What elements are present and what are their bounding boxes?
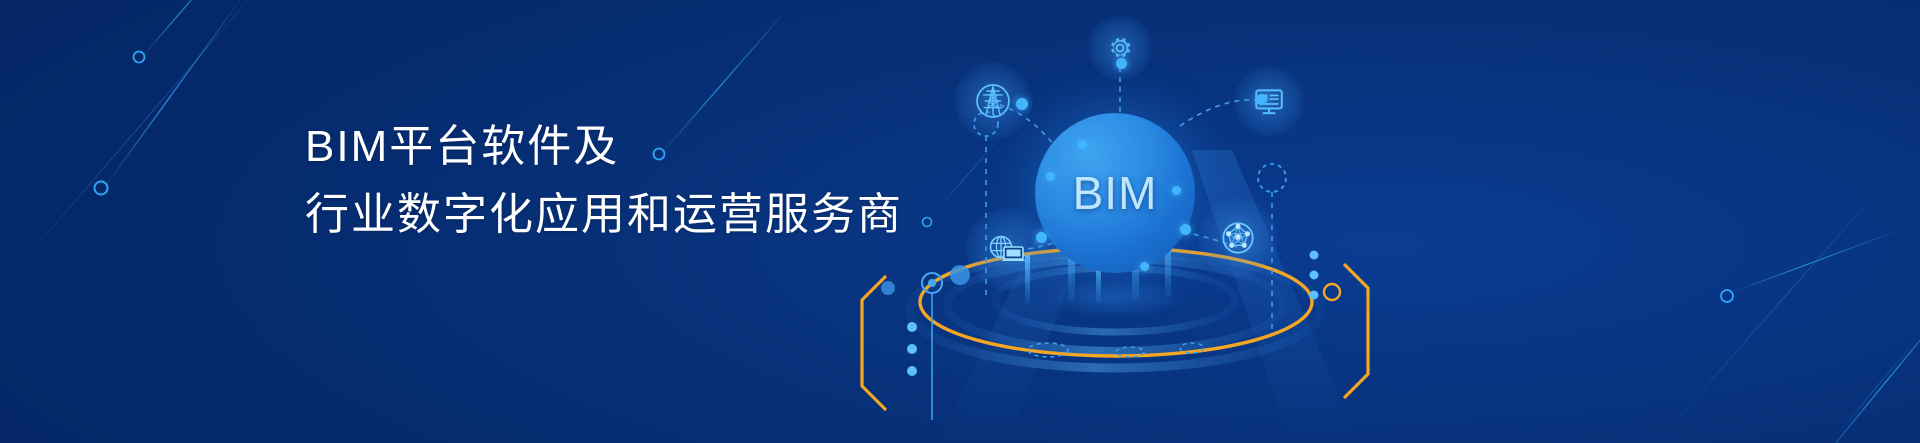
banner-headline: BIM平台软件及 行业数字化应用和运营服务商 [305, 113, 903, 249]
hero-banner: BIM平台软件及 行业数字化应用和运营服务商 [0, 0, 1920, 443]
connector-dot-gear [1116, 58, 1127, 69]
gear-icon-bubble[interactable] [1088, 16, 1152, 80]
connector-dot-sphere-top [1078, 140, 1087, 149]
monitor-icon-bubble[interactable] [1234, 66, 1304, 136]
globe-laptop-icon [984, 229, 1030, 269]
network-node-icon-bubble[interactable] [1198, 198, 1278, 278]
connector-dot-sphere-left [1046, 172, 1055, 181]
power-tower-icon [971, 79, 1015, 123]
connector-dot-sphere-right [1172, 186, 1181, 195]
connector-dot-tower [1016, 98, 1028, 110]
network-node-icon [1217, 217, 1259, 259]
connector-dot-globe [1036, 232, 1047, 243]
connector-dot-monitor [1256, 94, 1267, 105]
connector-dot-sphere-lower [1140, 262, 1149, 271]
headline-line-1: BIM平台软件及 [305, 113, 903, 181]
bim-sphere-label: BIM [1035, 113, 1195, 273]
headline-line-2: 行业数字化应用和运营服务商 [305, 181, 903, 249]
bim-sphere: BIM [1035, 113, 1195, 273]
bim-illustration: BIM [820, 0, 1440, 443]
connector-dot-network [1180, 224, 1191, 235]
globe-laptop-icon-bubble[interactable] [966, 208, 1048, 290]
